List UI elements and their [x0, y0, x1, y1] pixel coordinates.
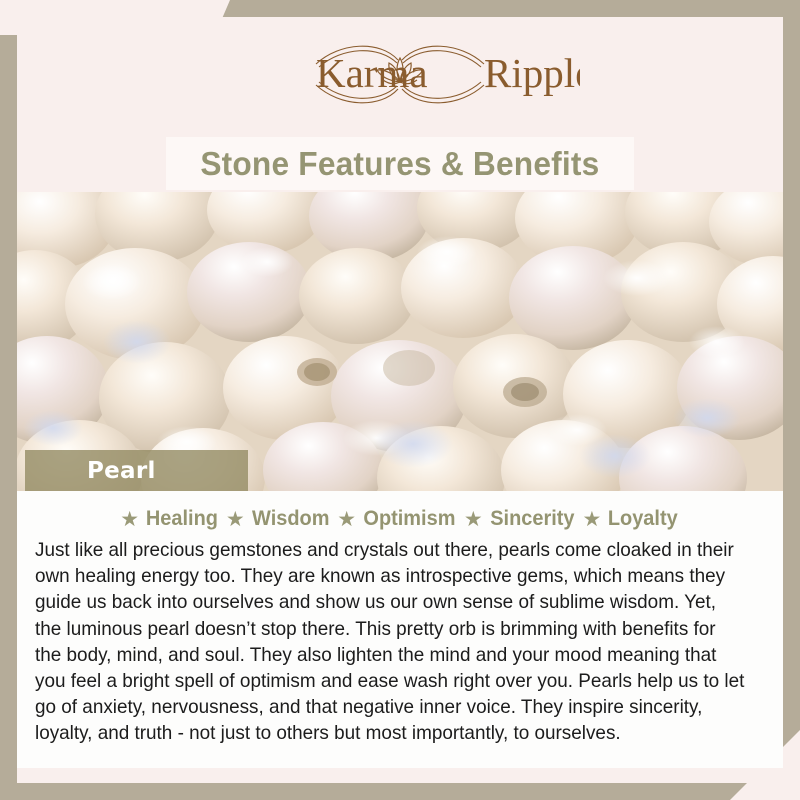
page-title: Stone Features & Benefits	[200, 145, 599, 183]
attribute-sincerity: ★ Sincerity	[464, 507, 577, 531]
attribute-loyalty: ★ Loyalty	[582, 507, 679, 531]
attribute-optimism: ★ Optimism	[337, 507, 458, 531]
page-title-banner: Stone Features & Benefits	[166, 137, 634, 190]
stone-name-banner: Pearl	[25, 450, 248, 492]
logo-svg: Karma Ripple	[220, 36, 580, 112]
brand-logo: Karma Ripple	[0, 34, 800, 114]
pearls-photo	[17, 192, 783, 491]
content-panel: ★ Healing ★ Wisdom ★ Optimism ★ Sincerit…	[17, 491, 783, 768]
attribute-healing: ★ Healing	[120, 507, 220, 531]
attribute-label: Wisdom	[252, 507, 329, 531]
brand-name-right: Ripple	[484, 50, 580, 96]
attribute-label: Sincerity	[490, 507, 574, 531]
star-icon: ★	[582, 509, 601, 530]
stone-info-card: Karma Ripple Stone Features & Benefits	[0, 0, 800, 800]
attributes-row: ★ Healing ★ Wisdom ★ Optimism ★ Sincerit…	[17, 491, 783, 531]
attribute-label: Healing	[146, 507, 218, 531]
attribute-label: Loyalty	[608, 507, 678, 531]
attribute-wisdom: ★ Wisdom	[226, 507, 331, 531]
star-icon: ★	[337, 509, 356, 530]
star-icon: ★	[464, 509, 483, 530]
pearls-photo-svg	[17, 192, 783, 491]
stone-description: Just like all precious gemstones and cry…	[35, 537, 747, 747]
star-icon: ★	[120, 509, 139, 530]
brand-name-left: Karma	[316, 50, 428, 96]
stone-name: Pearl	[87, 458, 156, 484]
attribute-label: Optimism	[363, 507, 455, 531]
star-icon: ★	[226, 509, 245, 530]
